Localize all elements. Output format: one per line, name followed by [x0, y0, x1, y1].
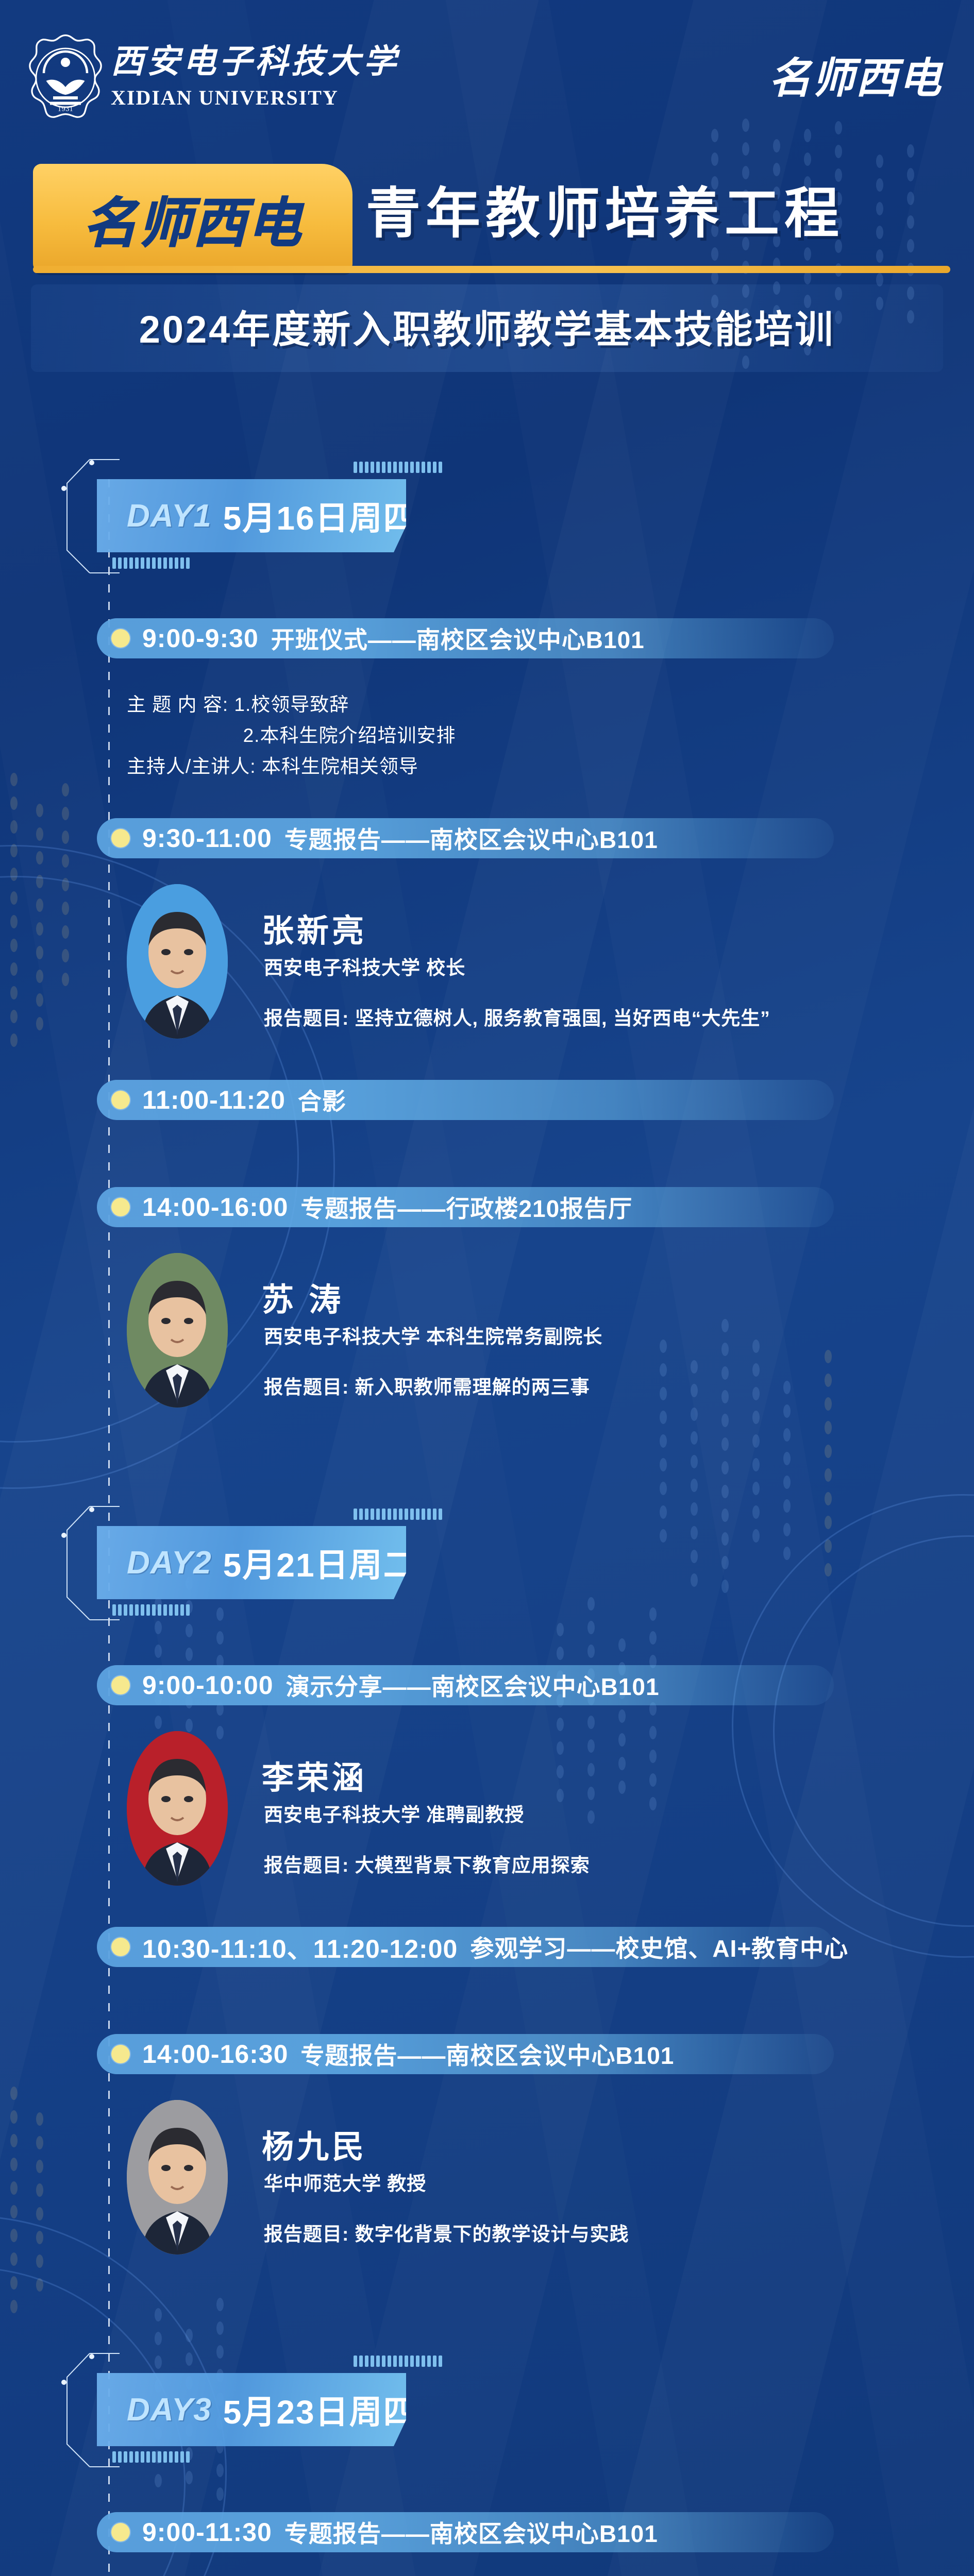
gold-rule-divider: [33, 266, 950, 273]
session-detail-line: 主持人/主讲人: 本科生院相关领导: [127, 751, 456, 782]
session-bullet-icon: [111, 2045, 130, 2063]
session-topic: 专题报告——南校区会议中心B101: [284, 821, 658, 855]
decorative-dot-column: [618, 1638, 626, 1804]
session-bullet-icon: [111, 629, 130, 648]
session-time: 9:00-10:00: [142, 1670, 274, 1700]
speaker-name: 张新亮: [262, 905, 367, 951]
day-date: 5月16日周四: [223, 492, 417, 539]
session-time: 14:00-16:00: [142, 1192, 288, 1222]
university-name-cn: 西安电子科技大学: [111, 45, 327, 78]
decorative-dot-column: [783, 1381, 791, 1570]
speaker-talk-title: 报告题目: 数字化背景下的教学设计与实践: [264, 2218, 629, 2246]
session-detail-line: 2.本科生院介绍培训安排: [127, 720, 456, 751]
session-bar[interactable]: 9:00-11:30专题报告——南校区会议中心B101: [97, 2512, 834, 2552]
decorative-arc: [732, 1494, 974, 1958]
session-topic: 合影: [298, 1083, 346, 1117]
tick-row-bottom: [112, 1604, 190, 1616]
session-time: 9:30-11:00: [142, 823, 272, 853]
speaker-talk-title: 报告题目: 新入职教师需理解的两三事: [264, 1371, 590, 1399]
speaker-name: 李荣涵: [262, 1752, 367, 1798]
gold-tab-label: 名师西电: [83, 179, 302, 257]
day-label: DAY1: [127, 498, 212, 534]
session-detail-line: 主 题 内 容: 1.校领导致辞: [127, 689, 456, 720]
session-time: 9:00-9:30: [142, 623, 259, 653]
portrait-yang-jiumin: [127, 2100, 228, 2255]
session-bar[interactable]: 14:00-16:30专题报告——南校区会议中心B101: [97, 2034, 834, 2074]
speaker-affiliation: 西安电子科技大学 校长: [264, 952, 465, 980]
day-chip-box[interactable]: DAY25月21日周二: [97, 1526, 406, 1599]
session-bullet-icon: [111, 829, 130, 848]
decorative-dot-column: [557, 1623, 564, 1812]
program-title: 青年教师培养工程: [366, 169, 844, 248]
decorative-dot-column: [36, 2112, 43, 2302]
session-topic: 演示分享——南校区会议中心B101: [286, 1668, 660, 1702]
page-subtitle: 2024年度新入职教师教学基本技能培训: [139, 299, 835, 354]
session-time: 11:00-11:20: [142, 1085, 286, 1115]
decorative-dot-column: [10, 2087, 18, 2324]
session-details: 主 题 内 容: 1.校领导致辞 2.本科生院介绍培训安排主持人/主讲人: 本科…: [127, 689, 456, 782]
decorative-dot-column: [660, 1340, 667, 1553]
decorative-dot-column: [752, 1340, 760, 1553]
session-bullet-icon: [111, 1676, 130, 1694]
day-chip-box[interactable]: DAY35月23日周四: [97, 2373, 406, 2446]
session-bar[interactable]: 11:00-11:20合影: [97, 1080, 834, 1120]
subtitle-wrapper: 2024年度新入职教师教学基本技能培训: [0, 299, 974, 354]
decorative-dot-column: [62, 783, 69, 996]
session-bar[interactable]: 10:30-11:10、11:20-12:00参观学习——校史馆、AI+教育中心: [97, 1927, 834, 1967]
tick-row-top: [354, 1509, 442, 1520]
session-time: 10:30-11:10、11:20-12:00: [142, 1928, 458, 1965]
day-label: DAY2: [127, 1545, 212, 1581]
session-time: 14:00-16:30: [142, 2039, 288, 2069]
poster-header: 1931 西安电子科技大学 XIDIAN UNIVERSITY 名师西电: [0, 0, 974, 149]
decorative-dot-column: [721, 1319, 729, 1603]
session-topic: 专题报告——南校区会议中心B101: [300, 2037, 674, 2071]
day-date: 5月21日周二: [223, 1539, 417, 1586]
session-topic: 开班仪式——南校区会议中心B101: [271, 621, 645, 655]
svg-text:1931: 1931: [58, 106, 74, 113]
session-bullet-icon: [111, 1938, 130, 1956]
session-bullet-icon: [111, 2523, 130, 2541]
speaker-affiliation: 西安电子科技大学 本科生院常务副院长: [264, 1321, 602, 1349]
portrait-su-tao: [127, 1253, 228, 1408]
session-bar[interactable]: 9:30-11:00专题报告——南校区会议中心B101: [97, 818, 834, 858]
tick-row-top: [354, 462, 442, 473]
session-bar[interactable]: 14:00-16:00专题报告——行政楼210报告厅: [97, 1187, 834, 1227]
gold-tab: 名师西电: [33, 164, 352, 272]
decorative-dot-column: [691, 1360, 698, 1597]
session-topic: 专题报告——南校区会议中心B101: [284, 2515, 658, 2549]
decorative-dot-column: [587, 1597, 595, 1834]
tick-row-bottom: [112, 2451, 190, 2463]
speaker-talk-title: 报告题目: 大模型背景下教育应用探索: [264, 1850, 590, 1877]
day-header-1: DAY15月16日周四: [97, 479, 406, 552]
speaker-affiliation: 华中师范大学 教授: [264, 2168, 426, 2196]
decorative-dot-column: [825, 1350, 832, 1587]
session-topic: 参观学习——校史馆、AI+教育中心: [470, 1930, 848, 1964]
tick-row-bottom: [112, 557, 190, 569]
decorative-dot-column: [36, 804, 43, 1041]
brand-mark: 名师西电: [769, 44, 942, 105]
day-date: 5月23日周四: [223, 2386, 417, 2433]
speaker-name: 杨九民: [262, 2121, 367, 2167]
speaker-name: 苏 涛: [262, 1274, 344, 1320]
university-name-en: XIDIAN UNIVERSITY: [111, 86, 327, 110]
session-time: 9:00-11:30: [142, 2517, 272, 2547]
tick-row-top: [354, 2355, 442, 2367]
session-bar[interactable]: 9:00-10:00演示分享——南校区会议中心B101: [97, 1665, 834, 1705]
title-band: 名师西电 青年教师培养工程: [0, 154, 974, 277]
day-header-2: DAY25月21日周二: [97, 1526, 406, 1599]
decorative-dot-column: [10, 773, 18, 1057]
session-topic: 专题报告——行政楼210报告厅: [300, 1190, 632, 1224]
decorative-dot-column: [649, 1607, 657, 1821]
university-wordmark: 西安电子科技大学 XIDIAN UNIVERSITY: [111, 45, 327, 110]
speaker-talk-title: 报告题目: 坚持立德树人, 服务教育强国, 当好西电“大先生”: [264, 1003, 770, 1030]
speaker-affiliation: 西安电子科技大学 准聘副教授: [264, 1799, 524, 1827]
university-crest-icon: 1931: [27, 32, 104, 130]
portrait-zhang-xinliang: [127, 884, 228, 1039]
session-bullet-icon: [111, 1198, 130, 1216]
day-chip-box[interactable]: DAY15月16日周四: [97, 479, 406, 552]
day-label: DAY3: [127, 2392, 212, 2428]
portrait-li-ronghan: [127, 1731, 228, 1886]
session-bar[interactable]: 9:00-9:30开班仪式——南校区会议中心B101: [97, 618, 834, 658]
session-bullet-icon: [111, 1091, 130, 1109]
day-header-3: DAY35月23日周四: [97, 2373, 406, 2446]
decorative-arc: [773, 1535, 974, 1927]
